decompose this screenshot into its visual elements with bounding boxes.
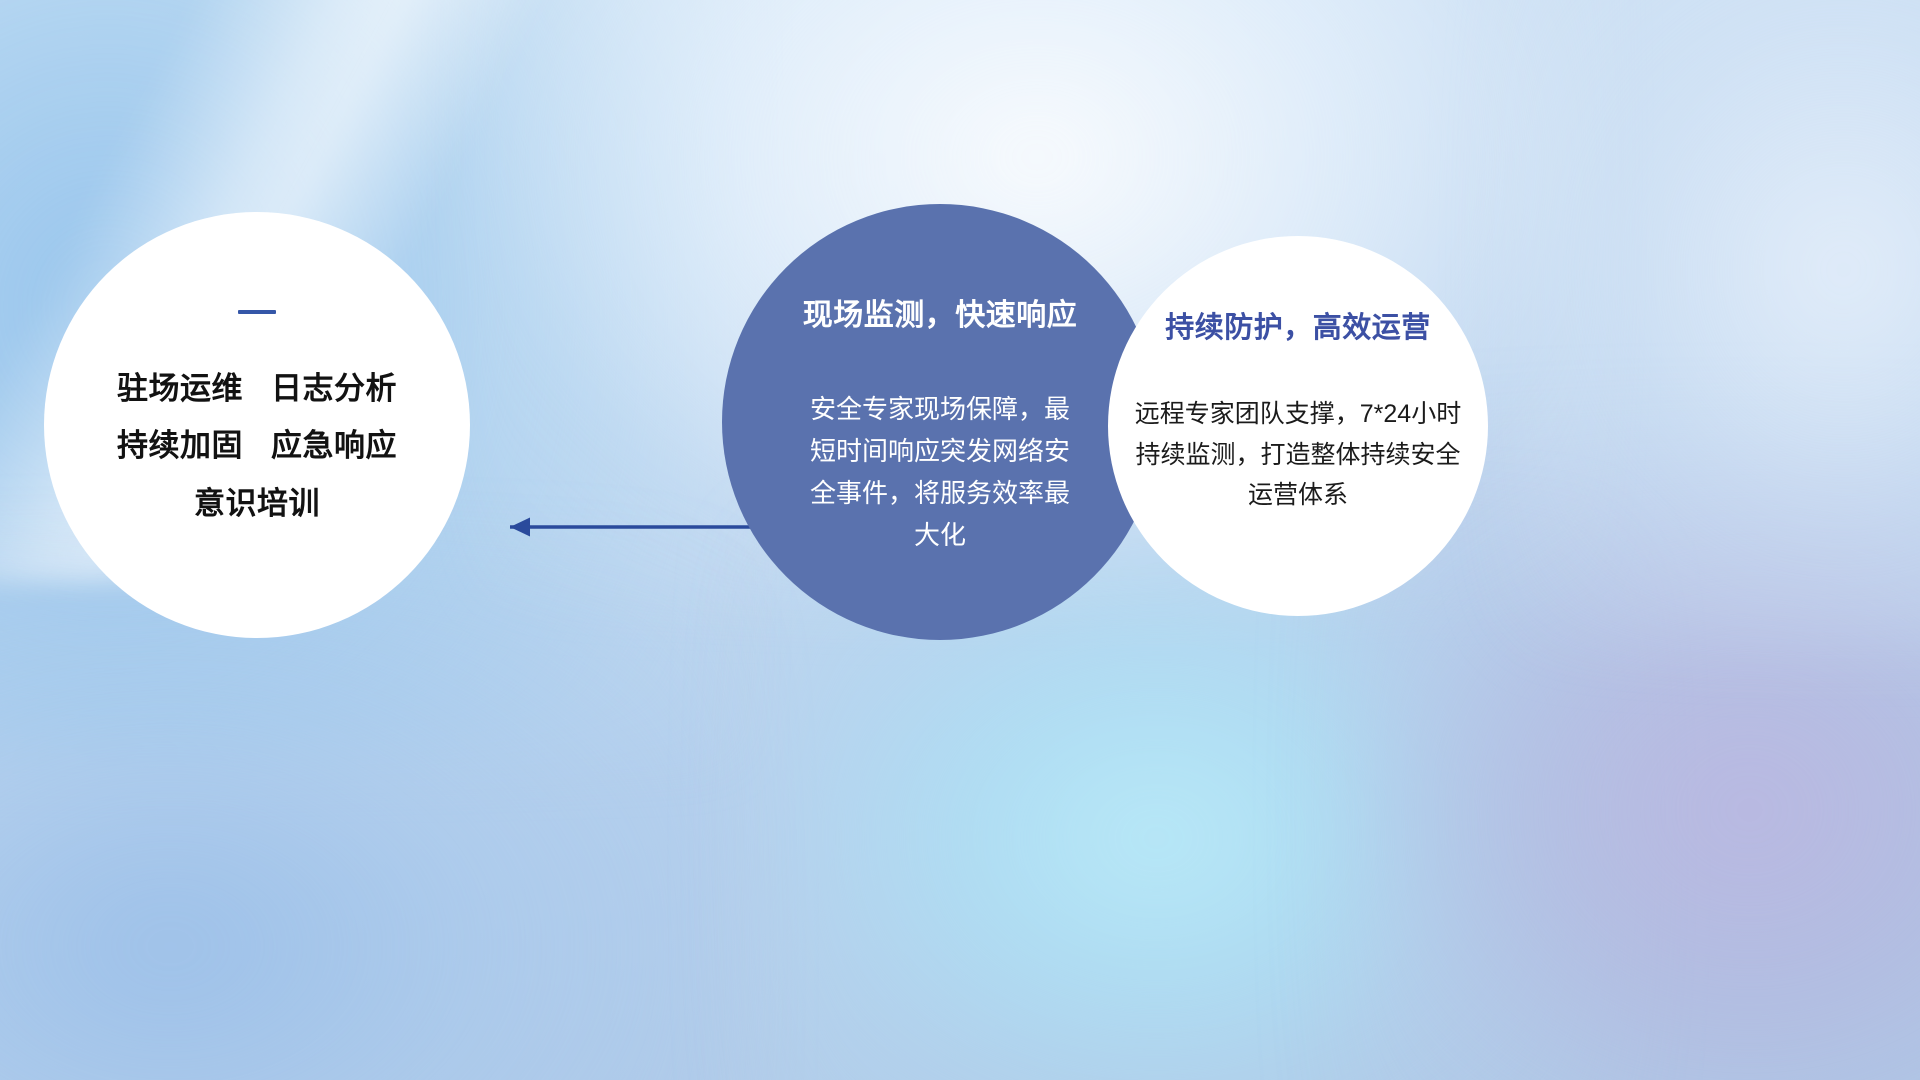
right-circle-title: 持续防护，高效运营 bbox=[1165, 304, 1431, 346]
middle-onsite-circle: 现场监测，快速响应 安全专家现场保障，最短时间响应突发网络安全事件，将服务效率最… bbox=[722, 204, 1158, 640]
service-tag: 持续加固 bbox=[117, 428, 243, 463]
background-wash-right bbox=[1498, 0, 1920, 648]
middle-circle-title: 现场监测，快速响应 bbox=[803, 290, 1078, 334]
background-glow-bottom-left bbox=[0, 562, 730, 1080]
service-tag: 意识培训 bbox=[194, 486, 320, 521]
left-circle-service-list: 驻场运维日志分析 持续加固应急响应 意识培训 bbox=[117, 360, 397, 532]
right-circle-body: 远程专家团队支撑，7*24小时持续监测，打造整体持续安全运营体系 bbox=[1130, 394, 1466, 516]
list-item: 意识培训 bbox=[117, 475, 397, 532]
left-circle-divider bbox=[238, 310, 276, 314]
list-item: 驻场运维日志分析 bbox=[117, 360, 397, 417]
service-tag: 驻场运维 bbox=[117, 371, 243, 406]
list-item: 持续加固应急响应 bbox=[117, 417, 397, 474]
left-service-circle: 驻场运维日志分析 持续加固应急响应 意识培训 bbox=[44, 212, 470, 638]
diagram-canvas: 驻场运维日志分析 持续加固应急响应 意识培训 现场监测，快速响应 安全专家现场保… bbox=[0, 0, 1920, 1080]
service-tag: 应急响应 bbox=[271, 428, 397, 463]
service-tag: 日志分析 bbox=[271, 371, 397, 406]
middle-circle-body: 安全专家现场保障，最短时间响应突发网络安全事件，将服务效率最大化 bbox=[801, 388, 1079, 556]
right-continuous-circle: 持续防护，高效运营 远程专家团队支撑，7*24小时持续监测，打造整体持续安全运营… bbox=[1108, 236, 1488, 616]
